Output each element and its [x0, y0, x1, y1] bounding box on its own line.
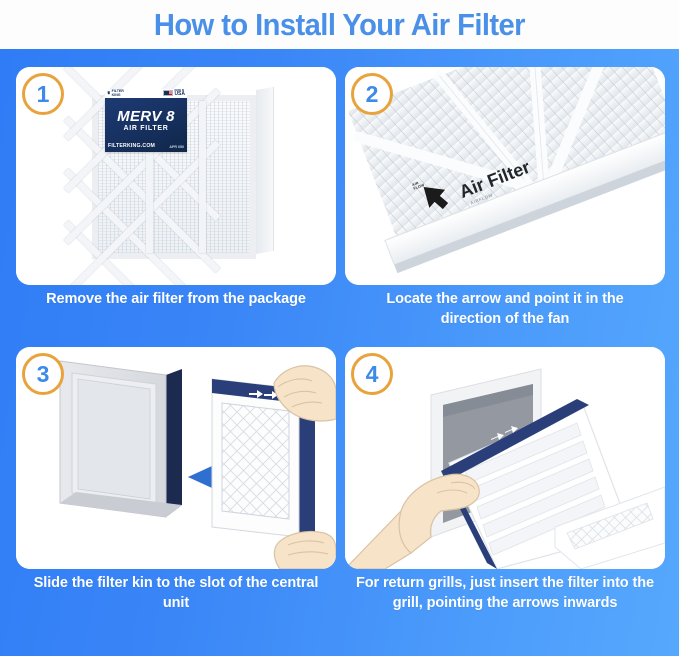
- step-card-1: ♛ FILTER KING MADE IN USA: [16, 67, 336, 285]
- step-number-badge-2: 2: [351, 73, 393, 115]
- step-caption-3: Slide the filter kin to the slot of the …: [16, 573, 336, 613]
- step-caption-2: Locate the arrow and point it in the dir…: [345, 289, 665, 329]
- hand-bottom-icon: [274, 531, 336, 569]
- step-number-4: 4: [366, 363, 379, 386]
- step-number-badge-4: 4: [351, 353, 393, 395]
- steps-grid: ♛ FILTER KING MADE IN USA: [0, 49, 679, 656]
- step-3-image-card: 3: [16, 347, 336, 569]
- filter-side-face: [256, 87, 274, 254]
- merv-rating-text: MERV 8: [105, 108, 187, 125]
- step-number-1: 1: [37, 83, 50, 106]
- brand-line-2: KING: [112, 93, 121, 97]
- filter-king-logo: ♛ FILTER KING: [107, 90, 124, 98]
- hand-inserting-filter-into-return-grill: [345, 347, 665, 569]
- step-card-4: 4 For return grills, just insert the fil…: [345, 347, 665, 569]
- hand-sliding-filter-into-central-unit-slot: [16, 347, 336, 569]
- step-number-2: 2: [366, 83, 379, 106]
- crown-icon: ♛: [107, 91, 111, 95]
- filter-rib: [199, 101, 206, 253]
- product-label-footer: FILTERKING.COM APR 650: [108, 143, 184, 149]
- step-card-2: AIR FLOW Air Filter AIRFLOW 2 Locate the…: [345, 67, 665, 285]
- step-number-3: 3: [37, 363, 50, 386]
- step-4-image-card: 4: [345, 347, 665, 569]
- infographic-root: How to Install Your Air Filter: [0, 0, 679, 656]
- step-number-badge-1: 1: [22, 73, 64, 115]
- product-label-brand-row: ♛ FILTER KING MADE IN USA: [105, 89, 187, 98]
- return-grill-illustration: [345, 347, 665, 569]
- step-number-badge-3: 3: [22, 353, 64, 395]
- air-filter-corner-with-airflow-arrow: AIR FLOW Air Filter AIRFLOW: [345, 67, 665, 285]
- product-type-text: AIR FILTER: [105, 125, 187, 132]
- country-text: USA: [174, 92, 185, 97]
- slide-filter-illustration: [16, 347, 336, 569]
- step-caption-1: Remove the air filter from the package: [16, 289, 336, 309]
- step-caption-4: For return grills, just insert the filte…: [345, 573, 665, 613]
- step-card-3: 3 Slide the filter kin to the slot of th…: [16, 347, 336, 569]
- us-flag-icon: [163, 90, 173, 96]
- apr-text: APR 650: [169, 145, 184, 149]
- product-label: ♛ FILTER KING MADE IN USA: [105, 98, 187, 152]
- air-filter-product-photo: ♛ FILTER KING MADE IN USA: [16, 67, 336, 285]
- header-bar: How to Install Your Air Filter: [0, 0, 679, 49]
- step-2-image-card: AIR FLOW Air Filter AIRFLOW 2: [345, 67, 665, 285]
- central-unit: [60, 361, 182, 517]
- step-1-image-card: ♛ FILTER KING MADE IN USA: [16, 67, 336, 285]
- page-title: How to Install Your Air Filter: [154, 7, 525, 43]
- website-text: FILTERKING.COM: [108, 143, 155, 149]
- made-in-usa-badge: MADE IN USA: [163, 90, 185, 97]
